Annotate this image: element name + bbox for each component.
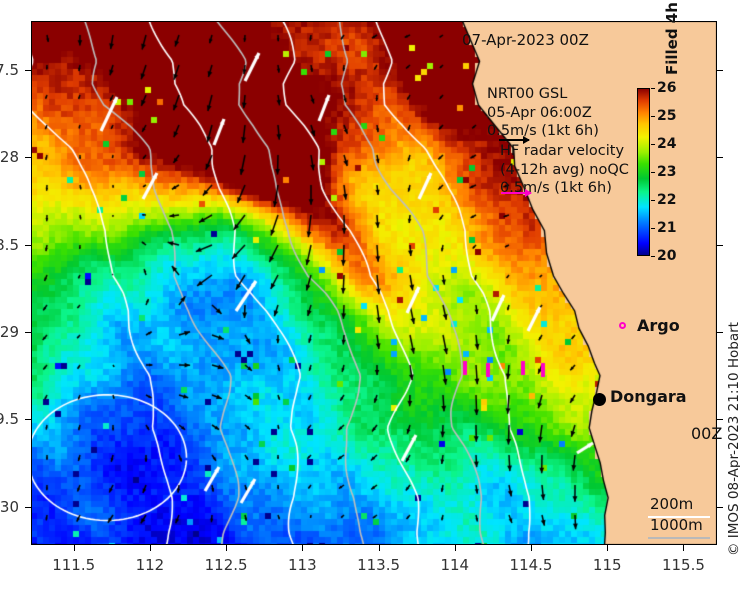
hf-legend-line-title: HF radar velocity <box>500 142 629 161</box>
y-tick <box>25 419 31 420</box>
colorbar-tick-label: 22 <box>657 192 676 208</box>
date-stamp: 07-Apr-2023 00Z <box>462 31 589 49</box>
y-tick-right <box>717 419 723 420</box>
legend-line-scale: 0.5m/s (1kt 6h) <box>487 122 599 141</box>
y-tick-right <box>717 157 723 158</box>
x-tick <box>379 545 380 551</box>
map-plot-area[interactable] <box>31 21 717 545</box>
legend-line-time: 05-Apr 06:00Z <box>487 104 599 123</box>
colorbar-tick-label: 24 <box>657 136 676 152</box>
y-tick <box>25 245 31 246</box>
x-tick-label: 112 <box>115 556 185 574</box>
x-tick-label: 113.5 <box>344 556 414 574</box>
bathy-label-200m: 200m <box>650 494 703 515</box>
dongara-label: Dongara <box>610 387 687 406</box>
colorbar-tick-label: 21 <box>657 220 676 236</box>
colorbar: 26252423222120 <box>637 88 650 256</box>
x-tick-label: 115.5 <box>648 556 718 574</box>
y-tick <box>25 157 31 158</box>
y-tick-right <box>717 70 723 71</box>
colorbar-tick <box>651 228 655 229</box>
colorbar-gradient <box>637 88 650 256</box>
colorbar-tick-label: 26 <box>657 80 676 96</box>
argo-marker-icon <box>619 322 626 329</box>
x-tick-label: 112.5 <box>191 556 261 574</box>
colorbar-tick-label: 25 <box>657 108 676 124</box>
y-tick-label: -30 <box>0 498 19 516</box>
x-tick <box>302 545 303 551</box>
y-tick <box>25 332 31 333</box>
current-vector-legend: NRT00 GSL 05-Apr 06:00Z 0.5m/s (1kt 6h) <box>487 85 599 141</box>
x-tick-label: 114 <box>420 556 490 574</box>
current-vector-legend-arrow-icon <box>499 139 529 141</box>
oceancurrent-sst-figure: 07-Apr-2023 00Z NRT00 GSL 05-Apr 06:00Z … <box>0 0 740 592</box>
y-tick-label: -28.5 <box>0 236 19 254</box>
hf-legend-line-detail: (4-12h avg) noQC <box>500 161 629 180</box>
legend-line-product: NRT00 GSL <box>487 85 599 104</box>
x-tick <box>455 545 456 551</box>
colorbar-tick <box>651 88 655 89</box>
x-tick <box>531 545 532 551</box>
hf-radar-legend-arrow-icon <box>501 192 531 194</box>
y-tick <box>25 70 31 71</box>
x-tick-label: 115 <box>572 556 642 574</box>
hf-legend-line-scale: 0.5m/s (1kt 6h) <box>500 179 629 198</box>
colorbar-tick <box>651 172 655 173</box>
colorbar-tick-label: 20 <box>657 248 676 264</box>
hf-radar-legend: HF radar velocity (4-12h avg) noQC 0.5m/… <box>500 142 629 198</box>
x-tick <box>74 545 75 551</box>
colorbar-title: Filled 4h comp, p50, All Sats <box>663 0 681 75</box>
y-tick <box>25 507 31 508</box>
x-tick <box>607 545 608 551</box>
colorbar-tick <box>651 200 655 201</box>
bathy-line-200m-icon <box>648 516 710 518</box>
x-tick <box>226 545 227 551</box>
colorbar-tick <box>651 144 655 145</box>
clipped-edge-label: 00Z <box>691 424 722 443</box>
copyright-notice: © IMOS 08-Apr-2023 21:10 Hobart <box>726 322 740 556</box>
bathy-line-1000m-icon <box>648 537 710 539</box>
colorbar-tick <box>651 256 655 257</box>
y-tick-label: -28 <box>0 148 19 166</box>
bathymetry-legend: 200m 1000m <box>650 494 703 536</box>
y-tick-right <box>717 332 723 333</box>
y-tick-right <box>717 245 723 246</box>
y-tick-label: -27.5 <box>0 61 19 79</box>
bathy-label-1000m: 1000m <box>650 515 703 536</box>
dongara-marker-icon <box>593 393 606 406</box>
colorbar-tick <box>651 116 655 117</box>
colorbar-tick-label: 23 <box>657 164 676 180</box>
x-tick-label: 111.5 <box>39 556 109 574</box>
x-tick <box>150 545 151 551</box>
argo-legend-label: Argo <box>637 316 680 335</box>
argo-track-layer <box>31 21 717 545</box>
x-tick-label: 113 <box>267 556 337 574</box>
y-tick-label: -29.5 <box>0 410 19 428</box>
x-tick <box>683 545 684 551</box>
x-tick-label: 114.5 <box>496 556 566 574</box>
y-tick-label: -29 <box>0 323 19 341</box>
y-tick-right <box>717 507 723 508</box>
